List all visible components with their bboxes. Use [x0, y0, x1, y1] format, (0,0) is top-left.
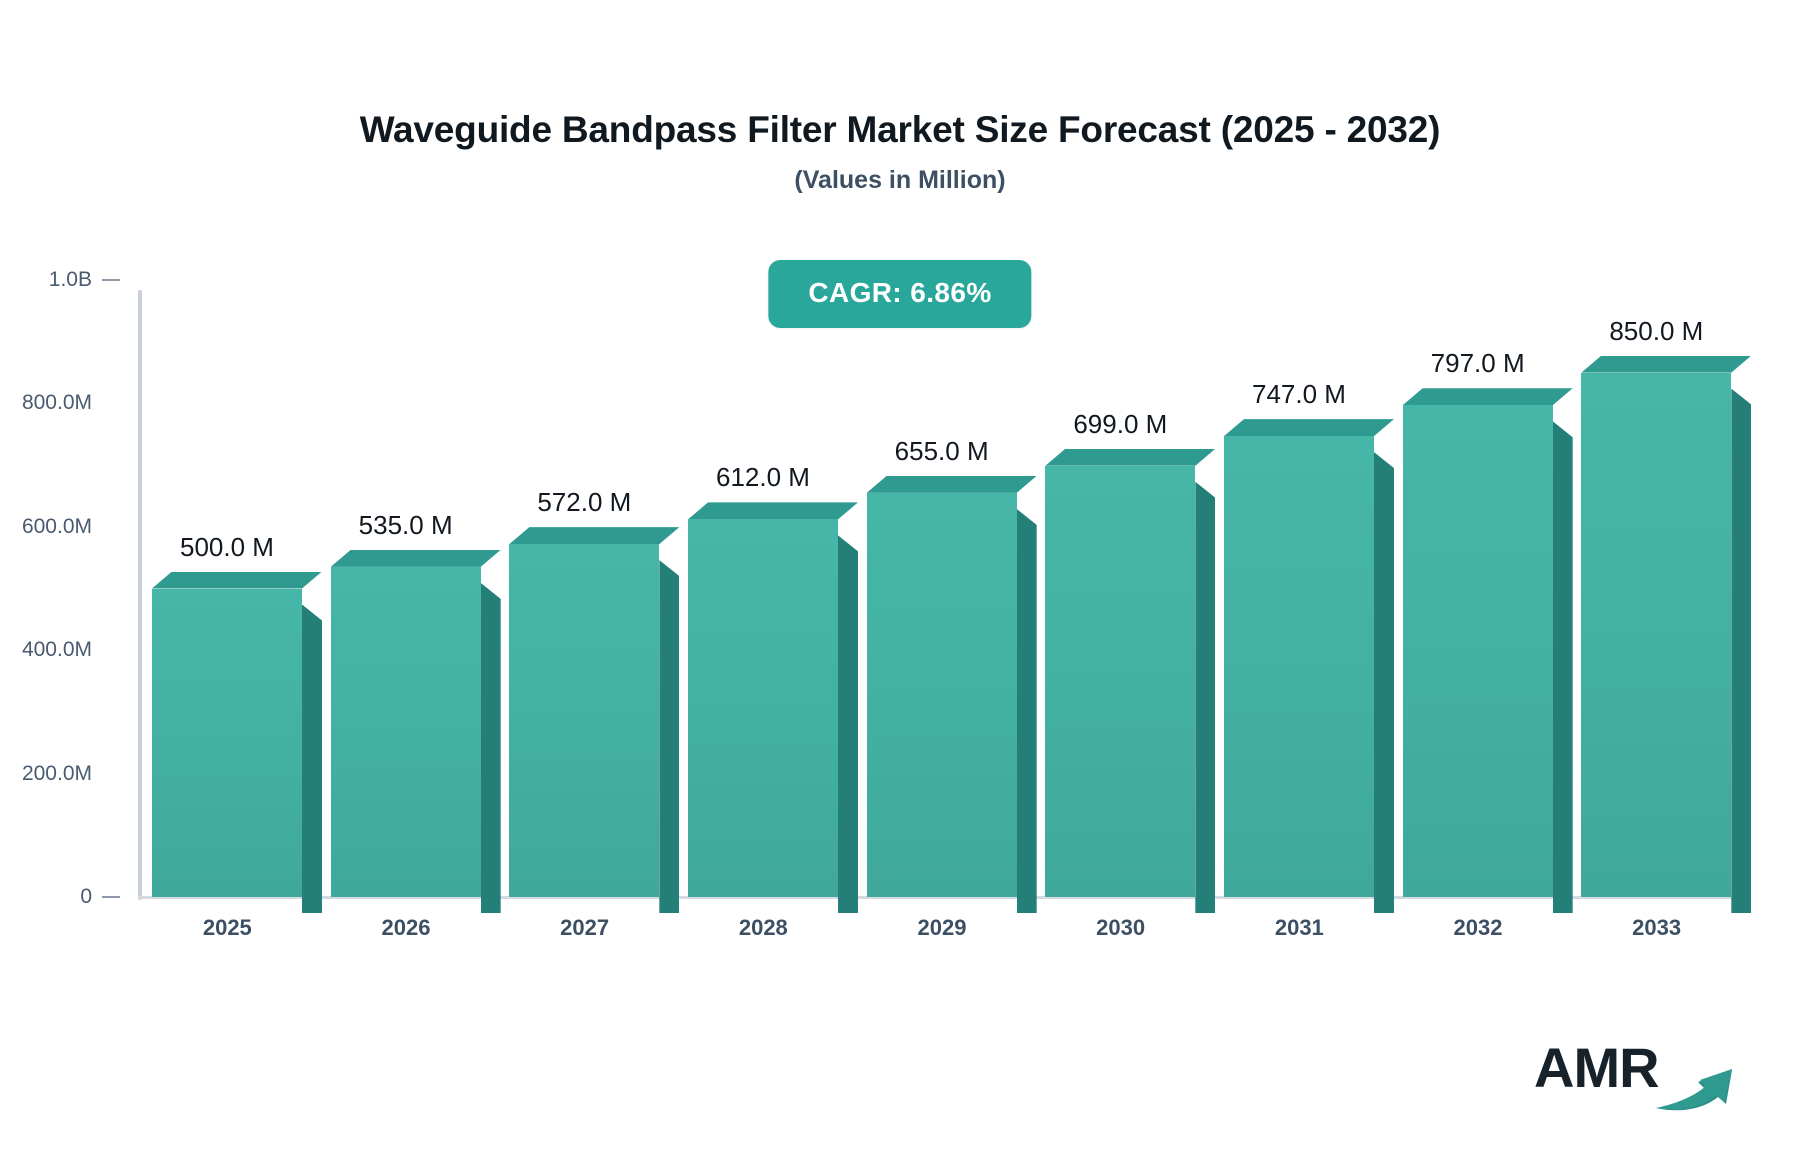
bar-side-face: [1731, 389, 1751, 913]
y-axis-tick-label: 600.0M: [22, 515, 92, 539]
x-axis-tick-label: 2033: [1567, 915, 1746, 941]
plot-area: 1.0B800.0M600.0M400.0M200.0M0 500.0 M535…: [0, 280, 1800, 900]
bar-value-label: 797.0 M: [1385, 348, 1571, 379]
x-axis-tick-label: 2028: [674, 915, 853, 941]
bar-column[interactable]: 612.0 M: [674, 280, 853, 897]
bar-front-face: [1224, 436, 1374, 897]
x-axis-tick-label: 2031: [1210, 915, 1389, 941]
chart-title: Waveguide Bandpass Filter Market Size Fo…: [0, 108, 1800, 152]
y-axis-tick-mark: [102, 896, 120, 898]
x-axis-labels: 202520262027202820292030203120322033: [138, 915, 1746, 955]
bar-top-face: [1224, 419, 1394, 436]
title-block: Waveguide Bandpass Filter Market Size Fo…: [0, 108, 1800, 195]
bar-top-face: [1403, 388, 1573, 405]
y-axis-tick-label: 200.0M: [22, 762, 92, 786]
y-axis-tick-mark: [102, 279, 120, 281]
x-axis-tick-label: 2025: [138, 915, 317, 941]
bar-value-label: 850.0 M: [1563, 316, 1749, 347]
bar-top-face: [688, 502, 858, 519]
bar-column[interactable]: 655.0 M: [853, 280, 1032, 897]
bar-front-face: [1403, 405, 1553, 897]
bar-top-face: [1581, 356, 1751, 373]
y-axis-tick-label: 1.0B: [49, 268, 92, 292]
bar-column[interactable]: 500.0 M: [138, 280, 317, 897]
bar-column[interactable]: 572.0 M: [495, 280, 674, 897]
bar-top-face: [509, 527, 679, 544]
bar-top-face: [331, 550, 501, 567]
y-axis-labels: 1.0B800.0M600.0M400.0M200.0M0: [0, 280, 138, 900]
bar-front-face: [509, 544, 659, 897]
bar-front-face: [688, 519, 838, 897]
bar-front-face: [1581, 373, 1731, 897]
bar-column[interactable]: 747.0 M: [1210, 280, 1389, 897]
bar-column[interactable]: 850.0 M: [1567, 280, 1746, 897]
x-axis-tick-label: 2029: [853, 915, 1032, 941]
bar-front-face: [1045, 466, 1195, 897]
bar-column[interactable]: 535.0 M: [317, 280, 496, 897]
bar-value-label: 612.0 M: [670, 462, 856, 493]
amr-logo: AMR: [1534, 1036, 1744, 1114]
bar-value-label: 655.0 M: [849, 436, 1035, 467]
bar-series: 500.0 M535.0 M572.0 M612.0 M655.0 M699.0…: [138, 280, 1746, 897]
bar-front-face: [331, 567, 481, 897]
bar-value-label: 500.0 M: [134, 532, 320, 563]
logo-text: AMR: [1534, 1040, 1659, 1096]
growth-arrow-icon: [1654, 1056, 1746, 1112]
x-axis-tick-label: 2032: [1389, 915, 1568, 941]
bar-front-face: [867, 493, 1017, 897]
y-axis-tick-label: 400.0M: [22, 638, 92, 662]
x-axis-tick-label: 2030: [1031, 915, 1210, 941]
bar-value-label: 572.0 M: [491, 487, 677, 518]
chart-card: Waveguide Bandpass Filter Market Size Fo…: [0, 0, 1800, 1156]
bar-top-face: [1045, 449, 1215, 466]
x-axis-tick-label: 2026: [317, 915, 496, 941]
bar-top-face: [867, 476, 1037, 493]
y-axis-tick-label: 0: [80, 885, 92, 909]
bar-column[interactable]: 797.0 M: [1389, 280, 1568, 897]
y-axis-tick-label: 800.0M: [22, 391, 92, 415]
bar-front-face: [152, 589, 302, 898]
bar-value-label: 747.0 M: [1206, 379, 1392, 410]
bar-value-label: 699.0 M: [1027, 409, 1213, 440]
chart-subtitle: (Values in Million): [0, 166, 1800, 195]
bar-top-face: [152, 572, 322, 589]
x-axis-tick-label: 2027: [495, 915, 674, 941]
bar-column[interactable]: 699.0 M: [1031, 280, 1210, 897]
bar-value-label: 535.0 M: [313, 510, 499, 541]
